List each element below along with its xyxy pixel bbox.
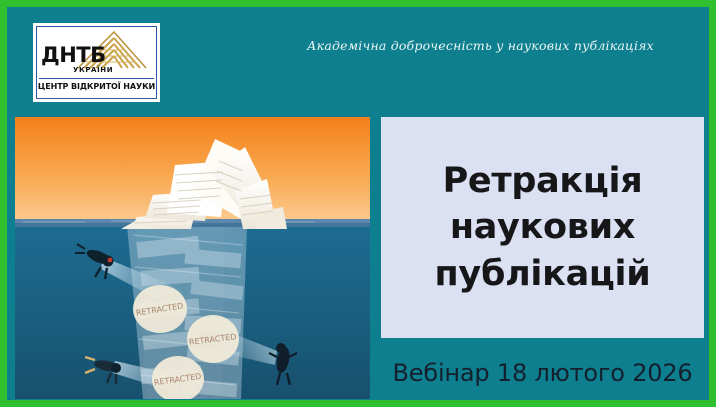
title-line-3: публікацій [435,251,651,297]
logo-frame: ДНТБ УКРАЇНИ ЦЕНТР ВІДКРИТОЇ НАУКИ [36,26,157,99]
paper-iceberg-illustration: RETRACTED RETRACTED RETRACTED [15,117,370,399]
logo-banner-text: ЦЕНТР ВІДКРИТОЇ НАУКИ [38,82,155,91]
logo-banner: ЦЕНТР ВІДКРИТОЇ НАУКИ [39,78,154,93]
title-line-2: наукових [450,204,635,250]
webinar-slide: ДНТБ УКРАЇНИ ЦЕНТР ВІДКРИТОЇ НАУКИ Акаде… [0,0,716,407]
title-panel: Ретракція наукових публікацій [381,117,704,338]
retraction-stamp: RETRACTED [187,315,239,363]
logo-sub-text: УКРАЇНИ [73,66,113,74]
webinar-date: Вебінар 18 лютого 2026 [381,359,704,387]
logo-main-text: ДНТБ [41,45,106,66]
dntb-ukraine-logo: ДНТБ УКРАЇНИ ЦЕНТР ВІДКРИТОЇ НАУКИ [33,23,160,102]
title-line-1: Ретракція [443,158,643,204]
header-tagline: Академічна доброчесність у наукових публ… [307,38,647,53]
retraction-stamp: RETRACTED [133,285,187,333]
